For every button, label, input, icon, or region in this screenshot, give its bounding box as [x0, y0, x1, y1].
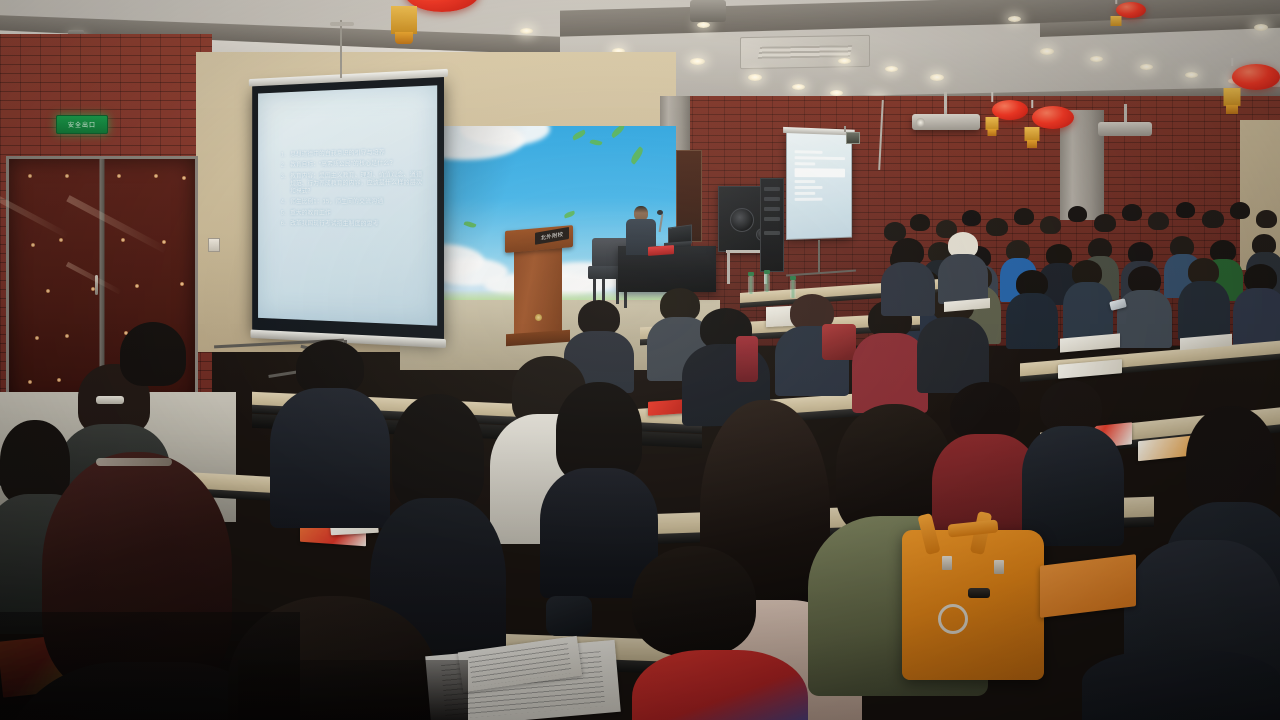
- slide-line: 1. 思想道德中的自我意识的引导与培养: [278, 148, 425, 159]
- ceiling-fixture: [690, 0, 726, 22]
- exit-sign: 安全出口: [56, 115, 108, 134]
- slide-number: 1.: [278, 151, 286, 159]
- ceiling-light: [1090, 56, 1103, 62]
- ceiling-projector-2: [1098, 122, 1152, 136]
- lectern-nameplate: 北外附校: [535, 227, 569, 245]
- ceiling-light: [1185, 72, 1198, 78]
- ceiling-light: [1140, 64, 1153, 70]
- slide-number: 6.: [278, 220, 286, 228]
- ceiling-light: [690, 58, 705, 65]
- ceiling-light: [520, 28, 533, 34]
- screen-mount: [330, 22, 354, 26]
- slide-number: 3.: [278, 173, 286, 196]
- projector-lens: [916, 118, 925, 127]
- exit-sign-label: 安全出口: [68, 120, 96, 129]
- hair-clip: [96, 396, 124, 404]
- ceiling-light: [1008, 16, 1021, 22]
- lecture-hall-photo: 安全出口: [0, 0, 1280, 720]
- lectern-nameplate-text: 北外附校: [541, 230, 564, 242]
- slide-number: 2.: [278, 162, 286, 170]
- ceiling-light: [1254, 24, 1268, 31]
- orange-folder[interactable]: [1040, 554, 1136, 618]
- collar-accent: [736, 336, 758, 382]
- foreground-silhouette: [120, 322, 186, 386]
- ceiling-light: [1040, 48, 1054, 55]
- ceiling-light: [930, 74, 944, 81]
- foreground-silhouette: [238, 660, 468, 720]
- projection-screen: 1. 思想道德中的自我意识的引导与培养 2. 教育目标：“高素质公民”的核心是什…: [252, 76, 444, 340]
- ceiling-light: [697, 22, 710, 28]
- lectern-top: 北外附校: [505, 225, 573, 253]
- water-bottle: [764, 274, 770, 292]
- slide-text: 教育内容：爱国主义教育、理想、价值观念、道德规范、行为养成教育的内容，应该是什么…: [290, 171, 425, 196]
- secondary-screen-surface: [786, 132, 852, 240]
- secondary-screen-post: [818, 240, 820, 274]
- slide-line: 3. 教育内容：爱国主义教育、理想、价值观念、道德规范、行为养成教育的内容，应该…: [278, 171, 425, 196]
- microphone: [657, 210, 663, 215]
- slide-number: 4.: [278, 199, 286, 207]
- wrist-band: [546, 596, 592, 636]
- loudspeaker-woofer: [730, 208, 754, 232]
- scarf: [822, 324, 856, 360]
- lectern: 北外附校: [508, 228, 570, 348]
- secondary-screen-content: [795, 150, 845, 204]
- screen-surface: 1. 思想道德中的自我意识的引导与培养 2. 教育目标：“高素质公民”的核心是什…: [258, 85, 437, 325]
- ac-vent: [740, 35, 870, 69]
- ceiling-light: [792, 84, 805, 90]
- water-bottle: [790, 280, 796, 298]
- slide-line: 5. 重大的教育工作: [278, 210, 425, 218]
- slide-text: 改革我国现行考试招生制度的思考: [290, 220, 425, 229]
- slide-content: 1. 思想道德中的自我意识的引导与培养 2. 教育目标：“高素质公民”的核心是什…: [278, 148, 425, 232]
- light-switch[interactable]: [208, 238, 220, 252]
- slide-text: 思想道德中的自我意识的引导与培养: [290, 148, 425, 159]
- slide-text: 教育目标：“高素质公民”的核心是什么？: [290, 159, 425, 169]
- slide-number: 5.: [278, 210, 286, 218]
- ceiling-light: [838, 58, 851, 64]
- red-document: [648, 245, 674, 256]
- wall-lamp: [846, 132, 860, 144]
- slide-line: 4. 师生比例1：15，师生间的交流沟通: [278, 198, 425, 206]
- water-bottle: [748, 276, 754, 294]
- equipment-rack: [760, 178, 784, 272]
- slide-text: 师生比例1：15，师生间的交流沟通: [290, 198, 425, 206]
- secondary-projection-screen: [786, 132, 852, 240]
- slide-line: 2. 教育目标：“高素质公民”的核心是什么？: [278, 159, 425, 169]
- slide-line: 6. 改革我国现行考试招生制度的思考: [278, 220, 425, 229]
- screen-hanger: [340, 20, 342, 78]
- ceiling-light: [748, 74, 762, 81]
- orange-handbag[interactable]: [902, 530, 1044, 680]
- hairband: [96, 458, 172, 466]
- lectern-body: [514, 248, 562, 334]
- ceiling-light: [885, 66, 898, 72]
- slide-text: 重大的教育工作: [290, 210, 425, 218]
